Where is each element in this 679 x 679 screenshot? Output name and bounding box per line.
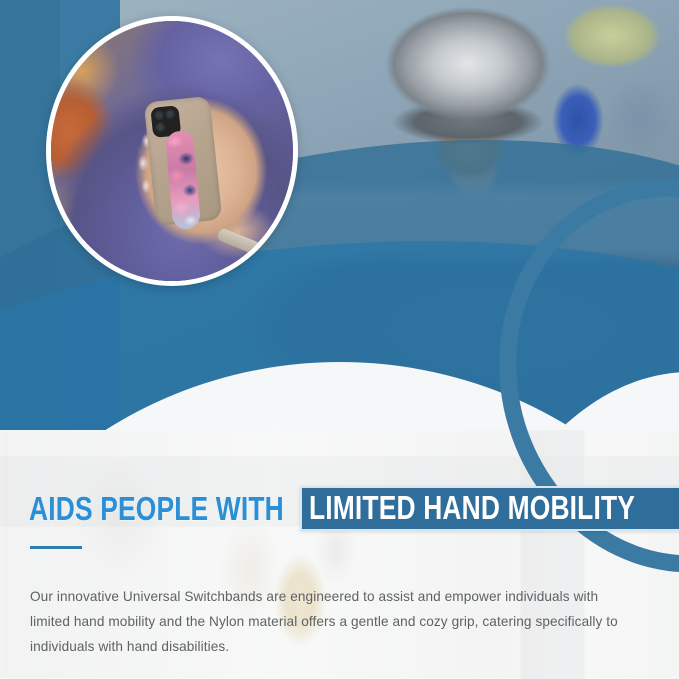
headline-plain-text: AIDS PEOPLE WITH (29, 492, 284, 525)
body-description-text: Our innovative Universal Switchbands are… (30, 584, 638, 659)
headline-highlight-text: LIMITED HAND MOBILITY (309, 491, 635, 524)
wristwatch (216, 227, 262, 256)
closeup-hand-photo (51, 21, 293, 281)
product-infographic-canvas: AIDS PEOPLE WITH LIMITED HAND MOBILITY O… (0, 0, 679, 679)
headline-highlight-box: LIMITED HAND MOBILITY (300, 486, 679, 531)
title-divider-rule (30, 546, 82, 549)
camera-lens-icon (154, 110, 165, 121)
page-title: AIDS PEOPLE WITH LIMITED HAND MOBILITY (29, 486, 679, 531)
circular-closeup-inset (46, 16, 298, 286)
camera-lens-icon (165, 109, 176, 120)
camera-lens-icon (155, 122, 166, 133)
